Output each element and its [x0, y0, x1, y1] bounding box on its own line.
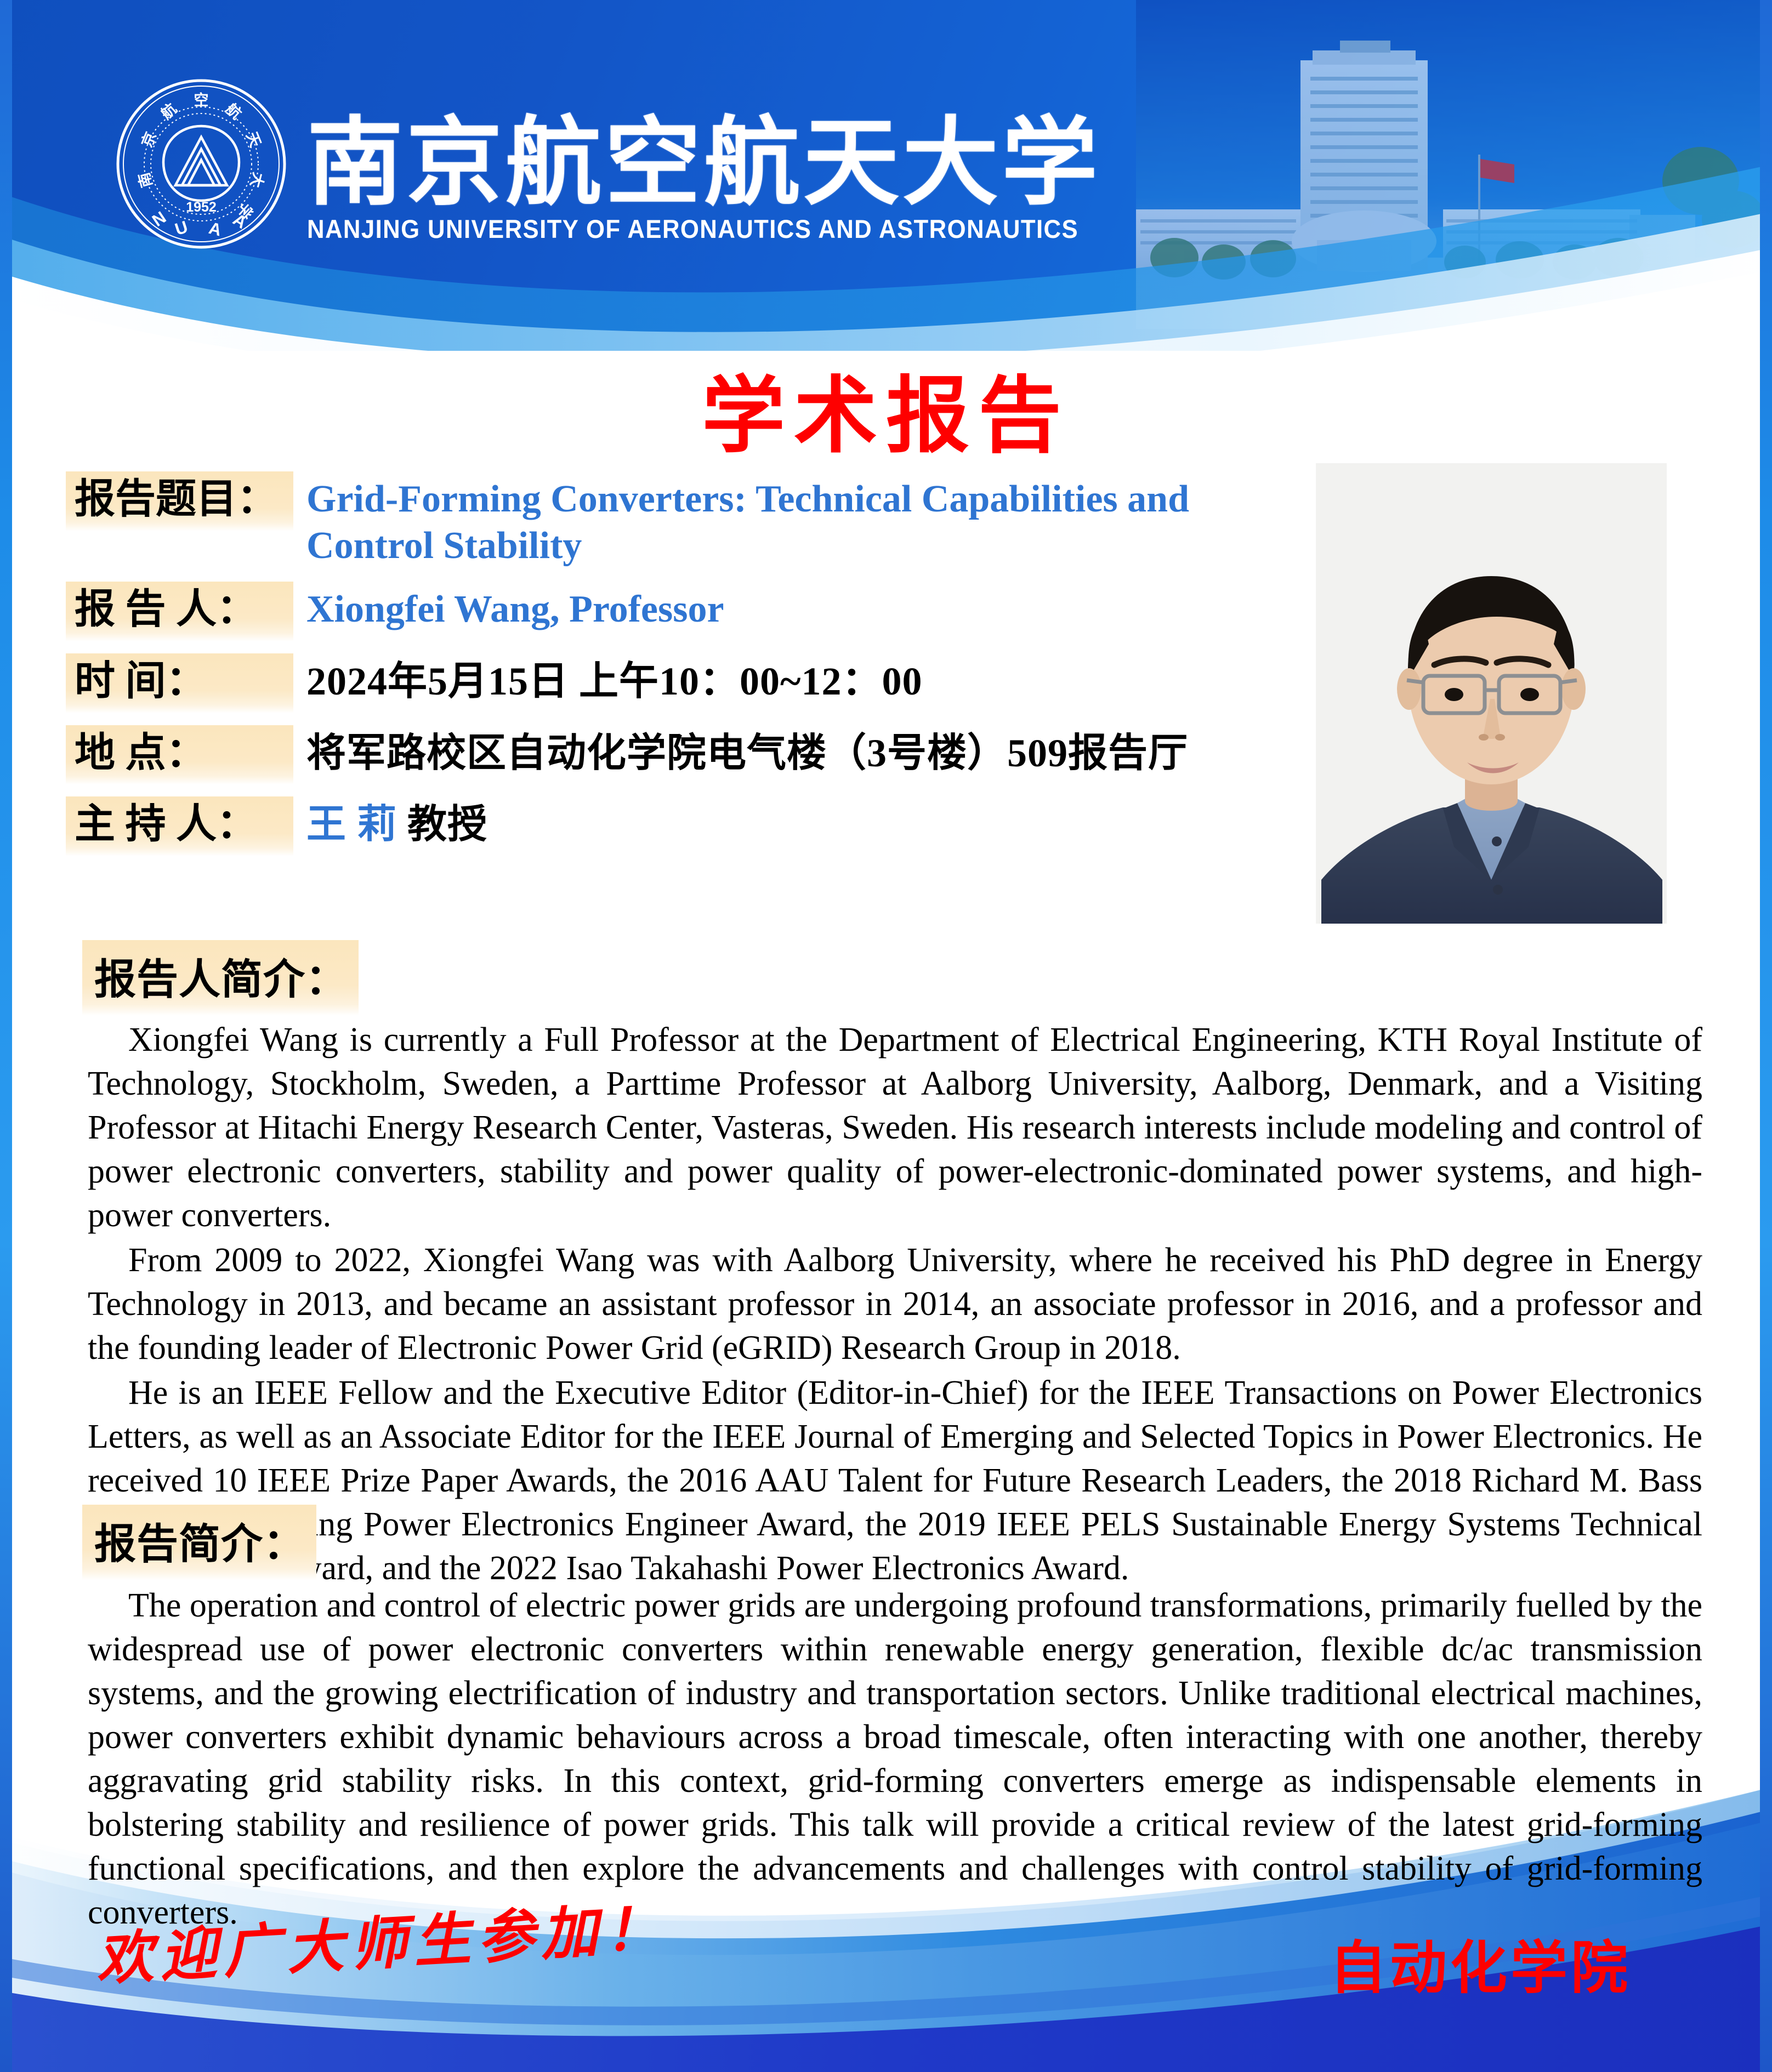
- label-speaker: 报 告 人：: [66, 582, 293, 641]
- value-topic: Grid-Forming Converters: Technical Capab…: [293, 471, 1299, 570]
- bio-paragraph: From 2009 to 2022, Xiongfei Wang was wit…: [88, 1239, 1702, 1370]
- nuaa-logo-icon: 空 航 京 南 航 天 大 学 1952 N: [114, 77, 288, 251]
- svg-text:U: U: [173, 217, 190, 239]
- svg-text:南: 南: [135, 170, 155, 189]
- page-title: 学术报告: [0, 348, 1772, 469]
- footer-department-text: 自动化学院: [1330, 1921, 1631, 2004]
- university-name-cn: 南京航空航天大学: [307, 85, 1101, 224]
- svg-text:航: 航: [157, 100, 180, 122]
- label-time: 时 间：: [66, 653, 293, 713]
- svg-text:京: 京: [138, 129, 160, 150]
- page-border-right: [1760, 0, 1772, 2072]
- value-venue: 将军路校区自动化学院电气楼（3号楼）509报告厅: [293, 725, 1299, 778]
- info-row-speaker: 报 告 人： Xiongfei Wang, Professor: [66, 582, 1299, 641]
- abstract-paragraph: The operation and control of electric po…: [88, 1584, 1702, 1935]
- label-venue: 地 点：: [66, 725, 293, 785]
- info-row-venue: 地 点： 将军路校区自动化学院电气楼（3号楼）509报告厅: [66, 725, 1299, 785]
- university-name-en: NANJING UNIVERSITY OF AERONAUTICS AND AS…: [307, 214, 1078, 244]
- abstract-text-block: The operation and control of electric po…: [88, 1584, 1702, 1935]
- svg-text:空: 空: [194, 92, 209, 109]
- event-info-block: 报告题目： Grid-Forming Converters: Technical…: [66, 471, 1299, 868]
- info-row-topic: 报告题目： Grid-Forming Converters: Technical…: [66, 471, 1299, 570]
- value-time: 2024年5月15日 上午10：00~12：00: [293, 653, 1299, 706]
- speaker-portrait: [1316, 463, 1667, 924]
- section-heading-abstract: 报告简介：: [82, 1505, 316, 1580]
- value-host: 王 莉 教授: [293, 796, 1299, 849]
- label-host: 主 持 人：: [66, 796, 293, 856]
- svg-text:航: 航: [223, 100, 245, 122]
- logo-year-text: 1952: [186, 200, 217, 215]
- bio-text-block: Xiongfei Wang is currently a Full Profes…: [88, 1018, 1702, 1591]
- page-border-left: [0, 0, 12, 2072]
- bio-paragraph: He is an IEEE Fellow and the Executive E…: [88, 1371, 1702, 1591]
- value-speaker: Xiongfei Wang, Professor: [293, 582, 1299, 633]
- svg-text:天: 天: [243, 129, 264, 149]
- svg-text:A: A: [207, 218, 223, 240]
- bio-paragraph: Xiongfei Wang is currently a Full Profes…: [88, 1018, 1702, 1238]
- poster-header: 空 航 京 南 航 天 大 学 1952 N: [0, 0, 1772, 351]
- value-host-title: 教授: [397, 802, 487, 846]
- section-heading-bio: 报告人简介：: [82, 940, 359, 1016]
- value-host-name: 王 莉: [306, 802, 397, 846]
- svg-text:N: N: [149, 208, 169, 231]
- label-topic: 报告题目：: [66, 471, 293, 531]
- info-row-host: 主 持 人： 王 莉 教授: [66, 796, 1299, 856]
- svg-text:大: 大: [247, 170, 267, 189]
- info-row-time: 时 间： 2024年5月15日 上午10：00~12：00: [66, 653, 1299, 713]
- seminar-poster: 空 航 京 南 航 天 大 学 1952 N: [0, 0, 1772, 2072]
